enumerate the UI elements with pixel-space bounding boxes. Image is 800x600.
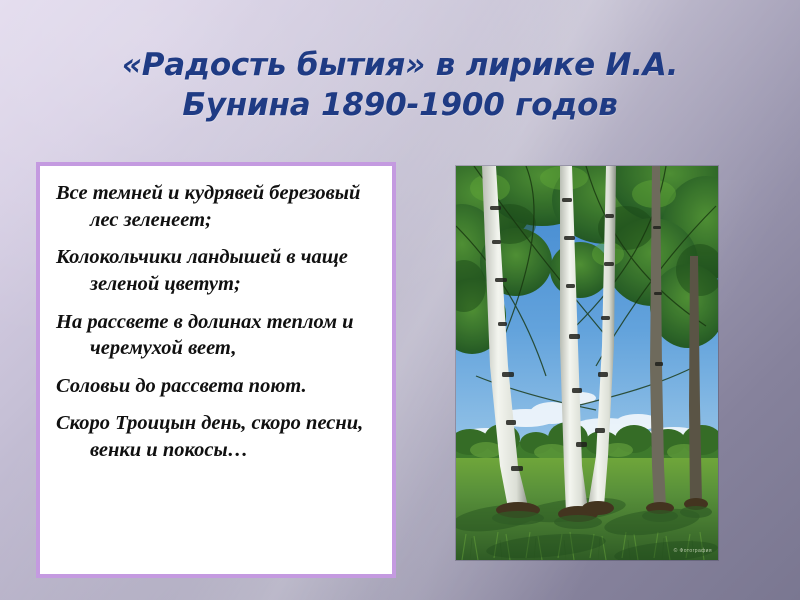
- poem-text-box: Все темней и кудрявей березовый лес зеле…: [36, 162, 396, 578]
- photo-credit: © Фотография: [674, 548, 712, 554]
- poem-line-list: Все темней и кудрявей березовый лес зеле…: [40, 166, 392, 464]
- slide-title-line-2: Бунина 1890-1900 годов: [40, 85, 760, 125]
- slide-title-line-1: «Радость бытия» в лирике И.А.: [40, 45, 760, 85]
- birch-forest-photo: © Фотография: [456, 166, 718, 560]
- presentation-slide: «Радость бытия» в лирике И.А. Бунина 189…: [0, 0, 800, 600]
- poem-line: Скоро Троицын день, скоро песни, венки и…: [56, 410, 380, 463]
- poem-line: Соловьи до рассвета поют.: [56, 373, 380, 400]
- slide-title: «Радость бытия» в лирике И.А. Бунина 189…: [40, 45, 760, 126]
- poem-line: Все темней и кудрявей березовый лес зеле…: [56, 180, 380, 233]
- birch-forest-illustration: [456, 166, 718, 560]
- poem-line: Колокольчики ландышей в чаще зеленой цве…: [56, 244, 380, 297]
- poem-line: На рассвете в долинах теплом и черемухой…: [56, 309, 380, 362]
